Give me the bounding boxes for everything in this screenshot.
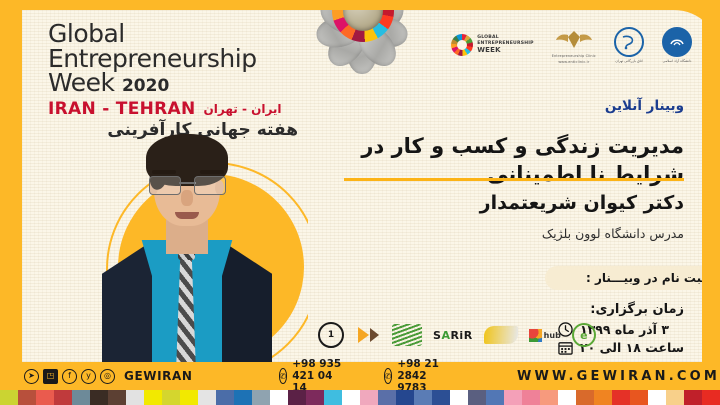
speaker-photo: [46, 118, 308, 362]
color-strip-segment: [144, 390, 162, 405]
partner-logo-clinic: Entrepreneurship Clinic www.enticlinic.i…: [552, 26, 596, 64]
color-strip-segment: [630, 390, 648, 405]
color-strip-segment: [360, 390, 378, 405]
partner-gew-text: GLOBAL ENTREPRENEURSHIP WEEK: [477, 35, 534, 55]
sponsor-yekta: 1: [318, 322, 344, 348]
speaker-role: مدرس دانشگاه لوون بلژیک: [322, 226, 684, 241]
color-strip-segment: [450, 390, 468, 405]
color-strip-segment: [216, 390, 234, 405]
bird-icon: [484, 326, 518, 344]
partner-clinic-url: www.enticlinic.ir: [558, 60, 589, 64]
twitter-icon[interactable]: y: [81, 369, 96, 384]
webinar-tag: وبینار آنلاین: [605, 98, 684, 114]
color-strip-segment: [126, 390, 144, 405]
color-strip-segment: [270, 390, 288, 405]
sponsor-sarir: SARiR: [433, 322, 473, 348]
eyebrow-left: [152, 170, 176, 174]
left-orange-bar: [0, 0, 22, 362]
color-strip-segment: [324, 390, 342, 405]
color-strip-segment: [72, 390, 90, 405]
sponsor-hub: hub: [529, 322, 561, 348]
e-leaf-icon: e: [572, 323, 596, 347]
color-strip-segment: [648, 390, 666, 405]
event-time-label: زمان برگزاری:: [558, 302, 684, 317]
instagram-icon[interactable]: ◎: [100, 369, 115, 384]
whatsapp-phone[interactable]: ✆ +98 935 421 04 14: [279, 358, 342, 394]
azad-glyph: [668, 33, 686, 51]
color-strip-segment: [396, 390, 414, 405]
color-strip-segment: [288, 390, 306, 405]
partner-gew-line3: WEEK: [477, 46, 534, 55]
gew-logo-line3: Week 2020: [48, 71, 298, 96]
partner-logo-gew: GLOBAL ENTREPRENEURSHIP WEEK: [451, 34, 534, 56]
color-strip-segment: [666, 390, 684, 405]
sdg-flower-decoration: [302, 10, 422, 80]
color-strip-segment: [486, 390, 504, 405]
footer-bar: ➤ ◳ f y ◎ GEWIRAN ✆ +98 935 421 04 14 ✆ …: [0, 362, 720, 390]
gew-location-fa: ایران - تهران: [204, 102, 282, 116]
color-strip-segment: [162, 390, 180, 405]
color-strip-segment: [108, 390, 126, 405]
color-strip-segment: [432, 390, 450, 405]
partner-chamber-caption: اتاق بازرگانی تهران: [615, 59, 642, 63]
color-strip-segment: [180, 390, 198, 405]
gew-location: IRAN - TEHRAN ایران - تهران: [48, 99, 298, 119]
webinar-poster: Global Entrepreneurship Week 2020 IRAN -…: [0, 0, 720, 405]
color-strip-segment: [414, 390, 432, 405]
color-strip-segment: [342, 390, 360, 405]
sponsor-arrow: [355, 325, 381, 345]
telegram-icon[interactable]: ➤: [24, 369, 39, 384]
color-strip-segment: [252, 390, 270, 405]
mouth: [175, 212, 199, 219]
speaker-name: دکتر کیوان شریعتمدار: [322, 192, 684, 214]
ict-stripes-icon: [392, 324, 422, 346]
gear-icon: 1: [318, 322, 344, 348]
sponsor-ideparvaran: [484, 322, 518, 348]
phone-icon: ✆: [384, 368, 393, 384]
wings-crest-icon: [554, 26, 594, 52]
gew-logo-line1: Global: [48, 22, 298, 47]
color-strip-segment: [594, 390, 612, 405]
color-strip-segment: [576, 390, 594, 405]
color-strip-segment: [522, 390, 540, 405]
color-strip: [0, 390, 720, 405]
sponsor-logos: 1 SARiR hub e: [318, 322, 596, 348]
whatsapp-number: +98 935 421 04 14: [292, 358, 341, 394]
color-strip-segment: [306, 390, 324, 405]
color-strip-segment: [0, 390, 18, 405]
color-strip-segment: [90, 390, 108, 405]
chamber-circle-icon: [614, 27, 644, 57]
color-strip-segment: [684, 390, 702, 405]
partner-logo-chamber: اتاق بازرگانی تهران: [614, 27, 644, 63]
partner-logos: GLOBAL ENTREPRENEURSHIP WEEK Entrepreneu…: [451, 26, 692, 64]
website-url[interactable]: WWW.GEWIRAN.COM: [517, 369, 720, 384]
whatsapp-icon: ✆: [279, 368, 288, 384]
social-links: ➤ ◳ f y ◎: [24, 369, 115, 384]
color-strip-segment: [18, 390, 36, 405]
gew-location-en: IRAN - TEHRAN: [48, 99, 196, 119]
office-phone[interactable]: ✆ +98 21 2842 9783: [384, 358, 445, 394]
partner-clinic-caption: Entrepreneurship Clinic: [552, 54, 596, 58]
sponsor-ict-center: [392, 322, 422, 348]
register-banner[interactable]: ثبت نام در وبیـــنار :: [545, 266, 720, 290]
hub-dots-icon: [529, 329, 542, 342]
nose: [181, 190, 193, 206]
gew-logo-year: 2020: [122, 76, 169, 96]
color-strip-segment: [612, 390, 630, 405]
color-strip-segment: [702, 390, 720, 405]
gew-ring-icon: [451, 34, 473, 56]
partner-logo-azad: دانشگاه آزاد اسلامی: [662, 27, 692, 63]
top-orange-bar: [0, 0, 720, 10]
color-strip-segment: [468, 390, 486, 405]
color-strip-segment: [540, 390, 558, 405]
speaker-portrait: [102, 128, 272, 362]
brand-handle: GEWIRAN: [124, 369, 193, 383]
title-divider: [344, 178, 684, 181]
chamber-glyph: [620, 33, 638, 51]
gew-logo-week: Week: [48, 68, 115, 97]
color-strip-segment: [36, 390, 54, 405]
azad-circle-icon: [662, 27, 692, 57]
register-banner-label: ثبت نام در وبیـــنار :: [586, 271, 706, 285]
sponsor-eshtaghal: e: [572, 322, 596, 348]
color-strip-segment: [54, 390, 72, 405]
eyebrow-right: [200, 170, 224, 174]
wings-crest-svg: [555, 28, 593, 50]
aparat-icon[interactable]: ◳: [43, 369, 58, 384]
partner-azad-caption: دانشگاه آزاد اسلامی: [663, 59, 692, 63]
poster-paper-panel: Global Entrepreneurship Week 2020 IRAN -…: [22, 10, 720, 362]
color-strip-segment: [198, 390, 216, 405]
facebook-icon[interactable]: f: [62, 369, 77, 384]
color-strip-segment: [234, 390, 252, 405]
right-orange-bar: [702, 0, 720, 362]
color-strip-segment: [504, 390, 522, 405]
color-strip-segment: [558, 390, 576, 405]
color-strip-segment: [378, 390, 396, 405]
office-number: +98 21 2842 9783: [397, 358, 445, 394]
hub-label: hub: [544, 331, 561, 340]
